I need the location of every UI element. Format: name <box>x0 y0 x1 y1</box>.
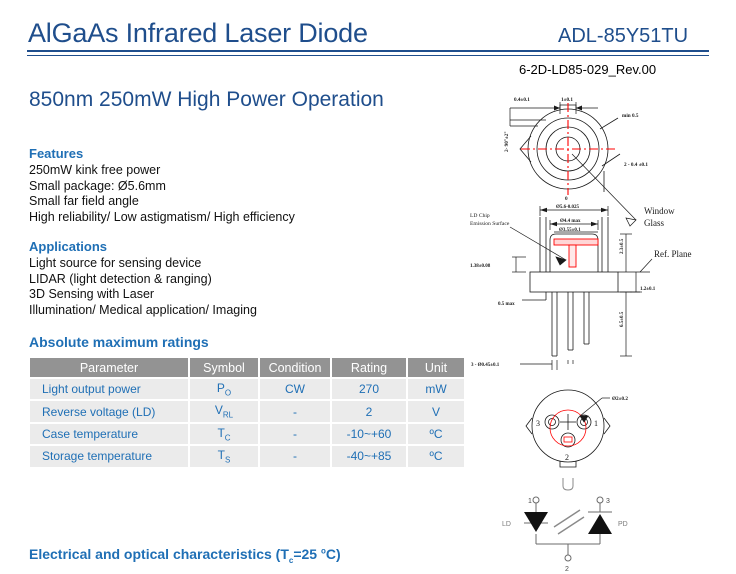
cell-rating: 2 <box>332 401 406 421</box>
orientation-notch-mark <box>563 478 573 490</box>
column-header-condition: Condition <box>260 358 330 377</box>
pd-diode-symbol <box>588 514 612 534</box>
header-rule-thick <box>27 50 709 52</box>
side-view <box>530 217 650 292</box>
cell-parameter: Light output power <box>30 379 188 399</box>
dim-cap-height-label: 1.38±0.08 <box>470 264 491 269</box>
cell-symbol: PO <box>190 379 258 399</box>
list-item: Light source for sensing device <box>29 256 257 272</box>
dim-flat-width-label: 0.4±0.1 <box>514 97 530 103</box>
bottom-view-pin2-outer <box>561 433 575 447</box>
list-item: Illumination/ Medical application/ Imagi… <box>29 303 257 319</box>
bottom-view-pin-label-1: 1 <box>594 419 598 428</box>
label-ld-chip-line1: LD Chip <box>470 213 490 219</box>
schematic-pin1-label: 1 <box>528 498 532 505</box>
column-header-parameter: Parameter <box>30 358 188 377</box>
symbol-subscript: RL <box>223 411 233 420</box>
eo-heading-mid: =25 <box>293 546 321 562</box>
symbol-subscript: S <box>225 456 230 465</box>
list-item: Small package: Ø5.6mm <box>29 179 295 195</box>
pin2-marker <box>564 437 572 442</box>
list-item: Small far field angle <box>29 194 295 210</box>
schematic-ld-label: LD <box>502 521 511 528</box>
column-header-symbol: Symbol <box>190 358 258 377</box>
column-header-unit: Unit <box>408 358 464 377</box>
schematic-pin2-terminal <box>565 555 571 561</box>
cell-condition: CW <box>260 379 330 399</box>
symbol-base: V <box>215 403 223 417</box>
cell-unit: ºC <box>408 446 464 466</box>
applications-heading: Applications <box>29 239 107 254</box>
symbol-subscript: O <box>225 388 231 397</box>
pcd-leader-arrow <box>580 416 588 422</box>
cell-symbol: TC <box>190 424 258 444</box>
table-header-row: Parameter Symbol Condition Rating Unit <box>30 358 464 377</box>
symbol-base: T <box>218 448 225 462</box>
top-view-right-flat-upper <box>600 118 618 129</box>
package-mechanical-drawing: 0.4±0.1 1±0.1 2- 90°±2° min 0.5 2 - 0.4 … <box>468 92 736 574</box>
column-header-rating: Rating <box>332 358 406 377</box>
list-item: LIDAR (light detection & ranging) <box>29 272 257 288</box>
cell-unit: ºC <box>408 424 464 444</box>
part-number: ADL-85Y51TU <box>558 25 688 48</box>
window-glass-element <box>554 239 598 245</box>
cell-condition: - <box>260 446 330 466</box>
cell-condition: - <box>260 424 330 444</box>
dim-cap-dia-label: Ø4.4 max <box>560 219 581 224</box>
schematic-pin2-label: 2 <box>565 566 569 573</box>
cell-symbol: TS <box>190 446 258 466</box>
table-row: Light output power PO CW 270 mW <box>30 379 464 399</box>
cell-rating: -40~+85 <box>332 446 406 466</box>
table-row: Storage temperature TS - -40~+85 ºC <box>30 446 464 466</box>
list-item: 3D Sensing with Laser <box>29 287 257 303</box>
cell-parameter: Case temperature <box>30 424 188 444</box>
cell-unit: V <box>408 401 464 421</box>
page-title: AlGaAs Infrared Laser Diode <box>28 18 368 49</box>
top-view-center-mark: 0 <box>565 196 568 202</box>
dim-notch-width-label: 1±0.1 <box>561 97 573 103</box>
label-window-line1: Window <box>644 206 675 216</box>
schematic-pin1-terminal <box>533 497 539 503</box>
cell-rating: 270 <box>332 379 406 399</box>
schematic-pin3-terminal <box>597 497 603 503</box>
page-subtitle: 850nm 250mW High Power Operation <box>29 88 384 112</box>
dim-pin-offset-label: 0.5 max <box>498 302 515 307</box>
applications-list: Light source for sensing device LIDAR (l… <box>29 256 257 318</box>
bottom-view-left-flat <box>526 418 532 434</box>
table-row: Reverse voltage (LD) VRL - 2 V <box>30 401 464 421</box>
revision-number: 6-2D-LD85-029_Rev.00 <box>519 62 656 77</box>
ld-chip-leader-arrow <box>556 257 566 265</box>
label-window-line2: Glass <box>644 218 664 228</box>
dim-body-dia-label: Ø5.6-0.025 <box>556 205 580 210</box>
cell-unit: mW <box>408 379 464 399</box>
schematic-pin3-label: 3 <box>606 498 610 505</box>
cell-symbol: VRL <box>190 401 258 421</box>
dim-pin-diameter-label: 3 - Ø0.45±0.1 <box>471 363 500 368</box>
ld-diode-symbol <box>524 512 548 532</box>
circuit-schematic: 1 3 2 LD PD <box>502 497 628 573</box>
dim-pcd-label: Ø2±0.2 <box>612 396 628 402</box>
absolute-maximum-ratings-table: Parameter Symbol Condition Rating Unit L… <box>28 356 466 469</box>
cell-parameter: Reverse voltage (LD) <box>30 401 188 421</box>
table-row: Case temperature TC - -10~+60 ºC <box>30 424 464 444</box>
pin-leads <box>522 292 589 356</box>
bottom-view-right-flat <box>604 418 610 434</box>
eo-heading-suffix: C) <box>326 546 341 562</box>
bottom-view-pin3-outer <box>545 415 559 429</box>
symbol-base: P <box>217 381 225 395</box>
dim-angle-label: 2- 90°±2° <box>503 132 510 152</box>
eo-heading-prefix: Electrical and optical characteristics (… <box>29 546 289 562</box>
header-rule-thin <box>27 55 709 56</box>
dim-base-thickness-label: 1.2±0.1 <box>640 287 656 292</box>
ratings-heading: Absolute maximum ratings <box>29 334 209 350</box>
features-heading: Features <box>29 146 83 161</box>
cell-condition: - <box>260 401 330 421</box>
dim-pin-length-label: 6.5±0.5 <box>620 311 625 327</box>
dim-window-dia-label: Ø3.55±0.1 <box>559 228 581 233</box>
top-view-centerlines <box>521 103 615 195</box>
schematic-pd-label: PD <box>618 521 628 528</box>
pin-dimensions <box>520 292 632 370</box>
cell-parameter: Storage temperature <box>30 446 188 466</box>
dim-window-height-label: 2.3±0.5 <box>620 238 625 254</box>
bottom-view-pin-label-2: 2 <box>565 453 569 462</box>
light-emission-arrows <box>554 510 584 534</box>
features-list: 250mW kink free power Small package: Ø5.… <box>29 163 295 225</box>
electrical-optical-heading: Electrical and optical characteristics (… <box>29 546 341 565</box>
ref-plane-leader <box>640 259 652 272</box>
top-view-right-flat-lower <box>602 154 620 166</box>
label-ref-plane: Ref. Plane <box>654 249 692 259</box>
cell-rating: -10~+60 <box>332 424 406 444</box>
symbol-subscript: C <box>225 433 231 442</box>
ld-chip-element <box>569 245 576 267</box>
side-view-base-flange <box>530 272 618 292</box>
window-glass-leader-arrow <box>626 218 636 226</box>
list-item: 250mW kink free power <box>29 163 295 179</box>
label-ld-chip-line2: Emission Surface <box>470 220 510 227</box>
dim-flat-depth-label: 2 - 0.4 ±0.1 <box>624 162 648 168</box>
dim-min-label: min 0.5 <box>622 113 639 119</box>
bottom-view-pin-label-3: 3 <box>536 419 540 428</box>
symbol-base: T <box>217 426 224 440</box>
list-item: High reliability/ Low astigmatism/ High … <box>29 210 295 226</box>
